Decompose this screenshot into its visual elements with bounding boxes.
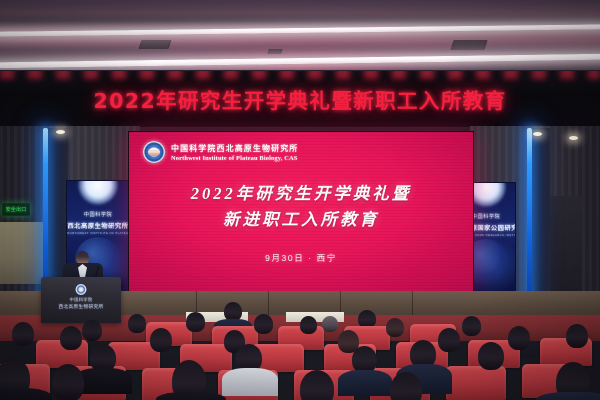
audience-shoulders xyxy=(0,388,52,400)
banner-left-line2: 西北高原生物研究所 xyxy=(67,221,129,230)
screen-title-line1: 2022年研究生开学典礼暨 xyxy=(129,180,473,204)
audience-head xyxy=(462,316,481,336)
exit-sign-icon: 安全出口 xyxy=(2,203,30,216)
spotlight xyxy=(56,130,65,134)
led-banner-text: 2022年研究生开学典礼暨新职工入所教育 xyxy=(93,84,506,114)
screen-org-name-en: Northwest Institute of Plateau Biology, … xyxy=(171,155,298,162)
banner-left-line3: NORTHWEST INSTITUTE OF PLATEAU BIOLOGY xyxy=(67,231,129,235)
main-led-screen: 中国科学院西北高原生物研究所 Northwest Institute of Pl… xyxy=(128,131,474,293)
audience-head xyxy=(566,324,588,348)
ceiling-vent xyxy=(139,40,172,49)
audience-head xyxy=(386,318,404,337)
audience-head xyxy=(150,328,172,352)
audience-head xyxy=(508,326,530,350)
audience-head xyxy=(478,342,504,370)
audience-head xyxy=(390,372,422,400)
audience-head xyxy=(52,364,84,400)
audience-head xyxy=(82,320,102,341)
ceiling-vent xyxy=(267,49,282,54)
banner-moon-graphic xyxy=(78,180,118,205)
audience-head xyxy=(60,326,82,350)
led-scrolling-banner: 2022年研究生开学典礼暨新职工入所教育 xyxy=(0,70,600,128)
ceiling xyxy=(0,0,600,70)
audience-head xyxy=(186,312,205,332)
audience-shoulders xyxy=(156,392,226,400)
audience-area xyxy=(0,300,600,400)
exit-sign-label: 安全出口 xyxy=(6,206,27,213)
screen-org-name-cn: 中国科学院西北高原生物研究所 xyxy=(171,143,298,154)
seat xyxy=(446,366,506,400)
screen-title-line2: 新进职工入所教育 xyxy=(129,206,473,230)
auditorium-photo: 2022年研究生开学典礼暨新职工入所教育 安全出口 中国科学院 西北高原生物研究… xyxy=(0,0,600,400)
audience-shoulders xyxy=(222,368,278,396)
podium-emblem-icon xyxy=(76,284,87,295)
institute-emblem-icon xyxy=(143,141,165,163)
ceiling-vent xyxy=(450,40,487,50)
audience-shoulders xyxy=(338,370,392,396)
audience-head xyxy=(12,322,34,346)
spotlight xyxy=(569,136,578,140)
audience-shoulders xyxy=(536,392,600,400)
audience-head xyxy=(438,328,460,352)
audience-head xyxy=(254,314,273,334)
audience-head xyxy=(322,316,338,332)
audience-head xyxy=(352,346,377,373)
screen-date-location: 9月30日 · 西宁 xyxy=(129,252,473,264)
spotlight xyxy=(533,132,542,136)
audience-head xyxy=(300,370,334,400)
audience-head xyxy=(128,314,146,333)
audience-head xyxy=(300,316,317,334)
banner-left-line1: 中国科学院 xyxy=(67,211,129,218)
screen-org-header: 中国科学院西北高原生物研究所 Northwest Institute of Pl… xyxy=(143,141,298,163)
